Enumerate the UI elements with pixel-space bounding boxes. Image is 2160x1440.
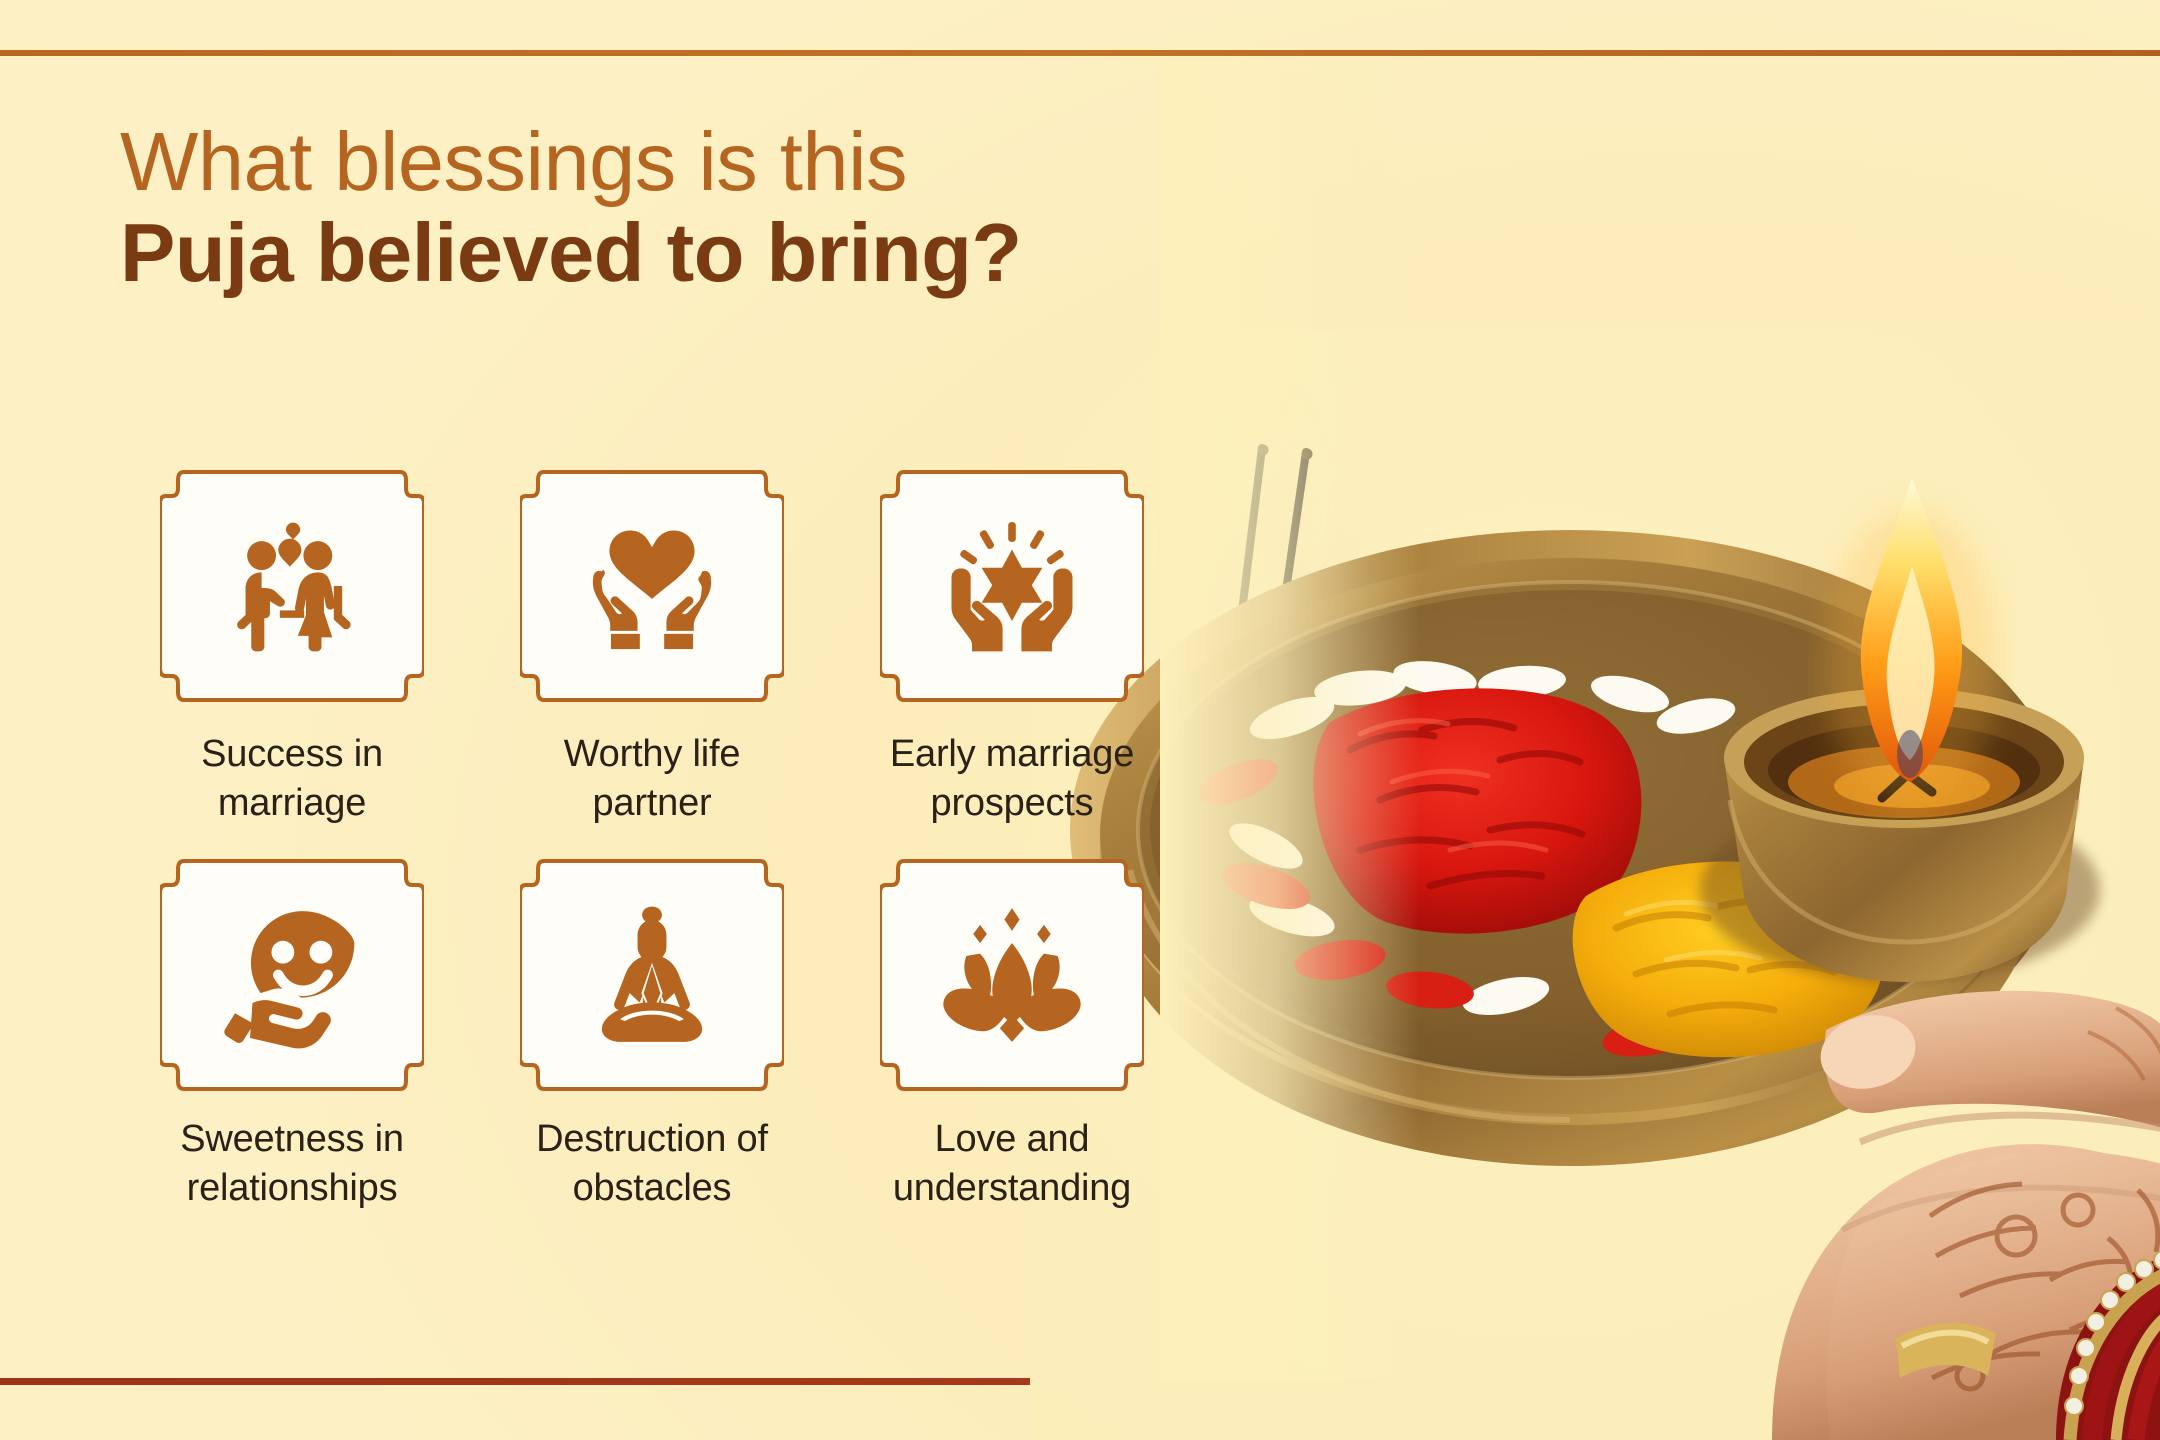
caption-line-1: Success in [201, 730, 383, 779]
hands-holding-heart-icon [576, 510, 728, 662]
caption-line-2: marriage [201, 779, 383, 828]
top-divider-rule [0, 50, 2160, 56]
blessing-caption: Love and understanding [893, 1115, 1131, 1214]
headline-line-2: Puja believed to bring? [120, 206, 1022, 301]
blessing-caption: Destruction of obstacles [536, 1115, 768, 1214]
blessing-caption: Sweetness in relationships [180, 1115, 404, 1214]
caption-line-1: Sweetness in [180, 1115, 404, 1164]
caption-line-1: Worthy life [564, 730, 741, 779]
blessing-caption: Early marriage prospects [890, 730, 1134, 829]
page-title: What blessings is this Puja believed to … [120, 118, 1022, 301]
badge-frame [880, 851, 1144, 1099]
poster-canvas: What blessings is this Puja believed to … [0, 0, 2160, 1440]
badge-frame [880, 462, 1144, 710]
blessing-caption: Success in marriage [201, 730, 383, 829]
couple-holding-hands-icon [216, 510, 368, 662]
blessing-caption: Worthy life partner [564, 730, 741, 829]
caption-line-1: Early marriage [890, 730, 1134, 779]
caption-line-1: Love and [893, 1115, 1131, 1164]
blessing-item-sweetness-in-relationships[interactable]: Sweetness in relationships [112, 851, 472, 1214]
blessings-grid: Success in marriage [112, 462, 1192, 1214]
caption-line-1: Destruction of [536, 1115, 768, 1164]
badge-frame [520, 851, 784, 1099]
caption-line-2: partner [564, 779, 741, 828]
blessing-item-early-marriage-prospects[interactable]: Early marriage prospects [832, 462, 1192, 829]
caption-line-2: prospects [890, 779, 1134, 828]
badge-frame [160, 851, 424, 1099]
badge-frame [160, 462, 424, 710]
caption-line-2: relationships [180, 1164, 404, 1213]
meditating-person-icon [576, 899, 728, 1051]
caption-line-2: obstacles [536, 1164, 768, 1213]
puja-thali-photo [1030, 330, 2160, 1440]
blessing-item-worthy-life-partner[interactable]: Worthy life partner [472, 462, 832, 829]
caption-line-2: understanding [893, 1164, 1131, 1213]
blessing-item-success-in-marriage[interactable]: Success in marriage [112, 462, 472, 829]
hands-holding-star-icon [936, 510, 1088, 662]
badge-frame [520, 462, 784, 710]
blessing-item-destruction-of-obstacles[interactable]: Destruction of obstacles [472, 851, 832, 1214]
blessing-item-love-and-understanding[interactable]: Love and understanding [832, 851, 1192, 1214]
hand-holding-smiley-icon [216, 899, 368, 1051]
headline-line-1: What blessings is this [120, 118, 1022, 206]
lotus-flower-icon [936, 899, 1088, 1051]
